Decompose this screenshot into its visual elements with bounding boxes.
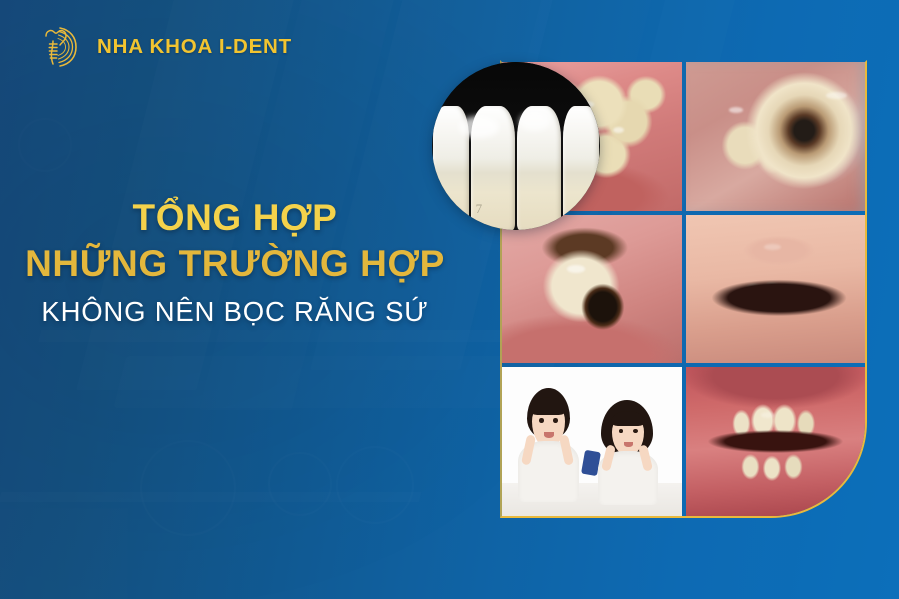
dental-promo-banner: NHA KHOA I-DENT TỔNG HỢP NHỮNG TRƯỜNG HỢ… [0,0,899,599]
headline-block: TỔNG HỢP NHỮNG TRƯỜNG HỢP KHÔNG NÊN BỌC … [0,196,470,330]
headline-line-2: NHỮNG TRƯỜNG HỢP [0,242,470,286]
shade-number-label: 7 [476,201,483,217]
photo-stained-decalcified-teeth-closeup [686,367,866,516]
headline-line-1: TỔNG HỢP [0,196,470,240]
photo-two-smiling-children [502,367,682,516]
child-right [592,400,671,507]
photo-molar-deep-cavity [502,215,682,364]
child-left [513,388,592,504]
photo-decayed-molar-dental-mirror [686,62,866,211]
headline-line-3: KHÔNG NÊN BỌC RĂNG SỨ [0,294,470,330]
brand-name: NHA KHOA I-DENT [97,35,292,59]
porcelain-crown-shade-inset: 7 [432,62,600,230]
photo-child-gapped-stained-teeth [686,215,866,364]
tooth-implant-logo-icon [34,22,84,72]
brand-logo[interactable]: NHA KHOA I-DENT [34,22,292,72]
